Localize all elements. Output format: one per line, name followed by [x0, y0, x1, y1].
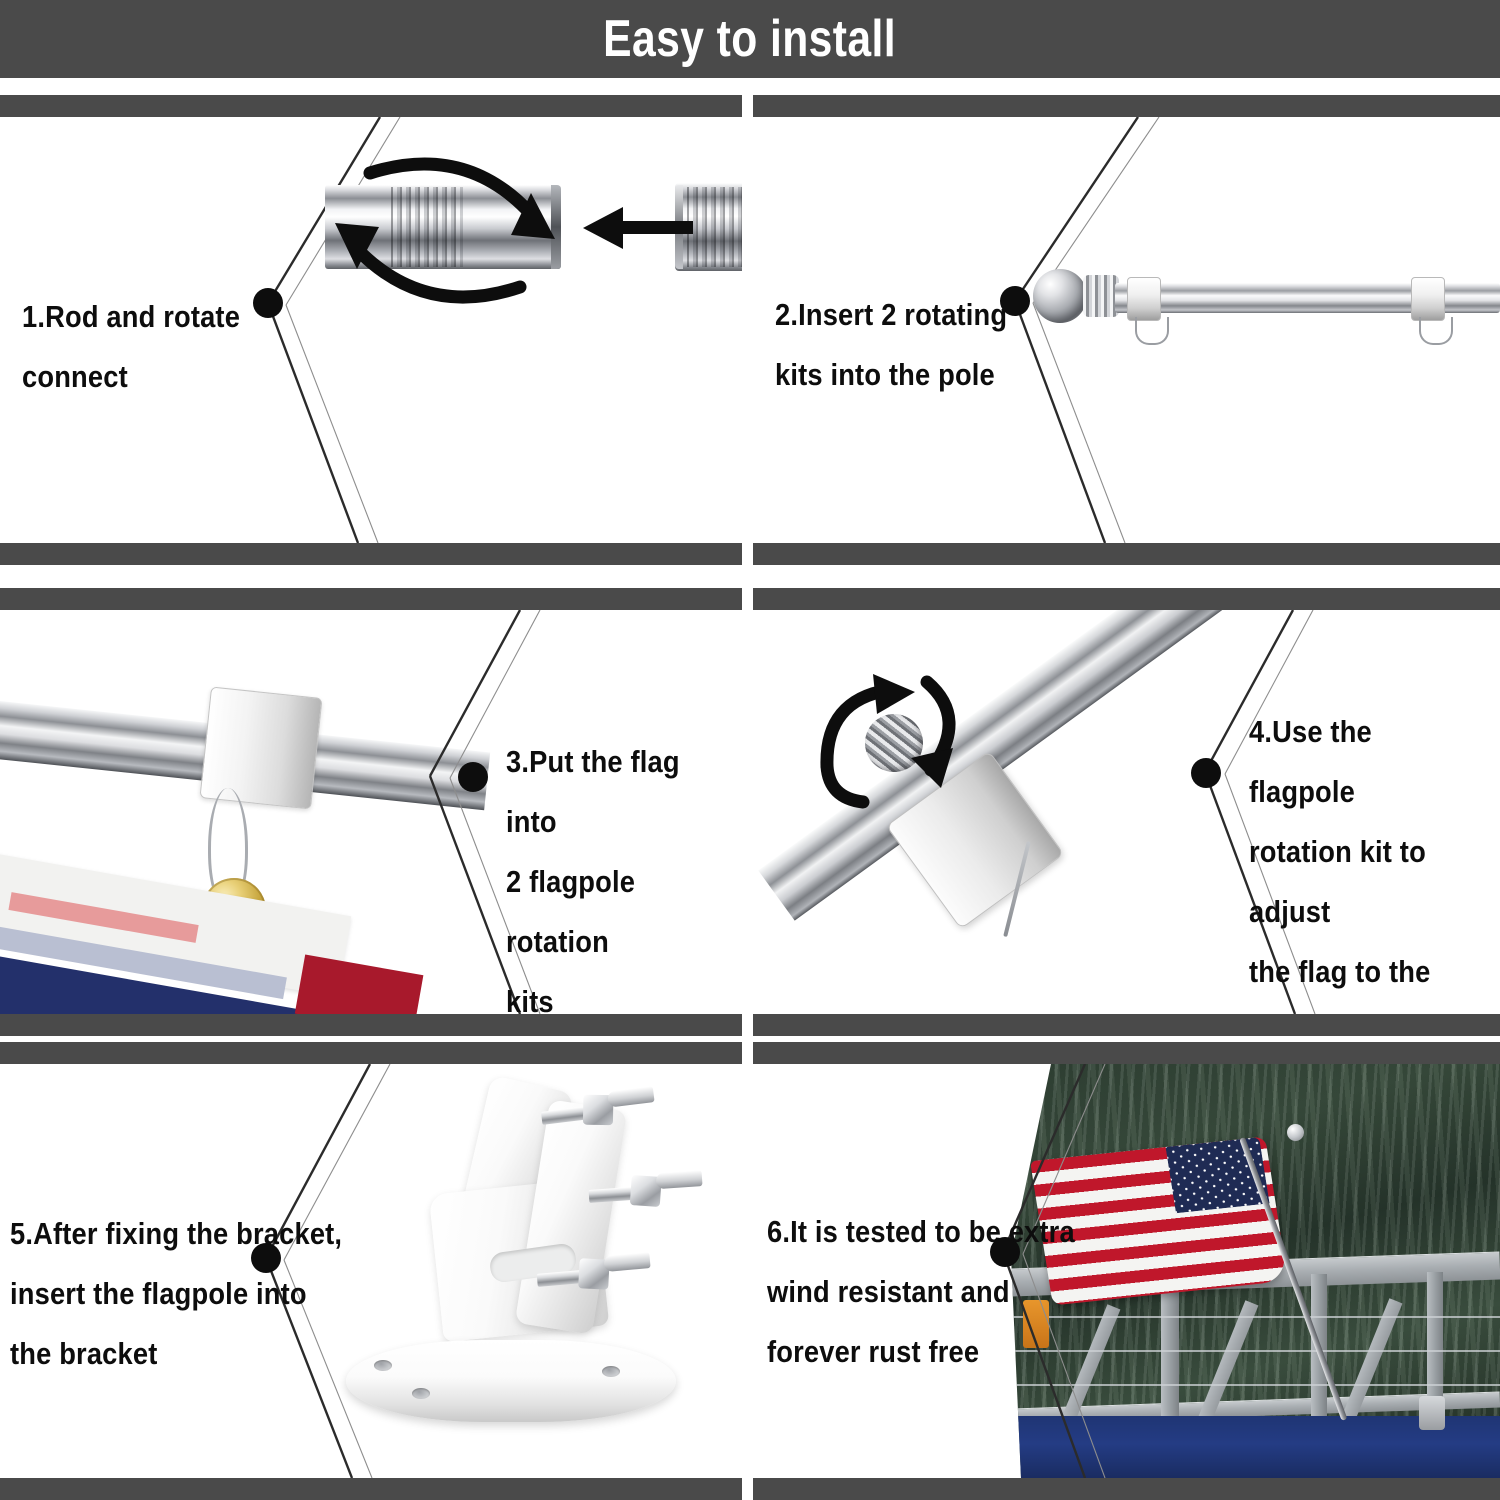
step-panel-5: 5.After fixing the bracket, insert the f… — [0, 1042, 742, 1500]
panel-bottom-bar — [0, 1014, 742, 1036]
rotation-clip — [199, 686, 322, 809]
step-marker-dot — [1191, 758, 1221, 788]
panel-top-bar — [0, 588, 742, 610]
step-4-caption: 4.Use the flagpole rotation kit to adjus… — [1249, 702, 1470, 1014]
dock-cable-3 — [1011, 1384, 1500, 1386]
dock-cable-1 — [1011, 1316, 1500, 1318]
dock-post-1 — [1161, 1278, 1179, 1428]
panel-bottom-bar — [0, 1478, 742, 1500]
ball-finial — [1033, 269, 1087, 323]
step-1-caption: 1.Rod and rotate connect — [22, 287, 240, 407]
panel-top-bar — [0, 1042, 742, 1064]
step-panel-2: 2.Insert 2 rotating kits into the pole — [753, 95, 1500, 565]
panel-top-bar — [753, 95, 1500, 117]
flag-body-red — [295, 954, 424, 1014]
base-screw-hole-2 — [412, 1388, 430, 1399]
panel-body: 1.Rod and rotate connect — [0, 117, 742, 543]
panel-top-bar — [753, 588, 1500, 610]
base-screw-hole-3 — [602, 1366, 620, 1377]
step-3-caption: 3.Put the flag into 2 flagpole rotation … — [506, 732, 714, 1014]
rotating-kit-ring-2 — [1411, 277, 1445, 321]
step-panel-3: 3.Put the flag into 2 flagpole rotation … — [0, 588, 742, 1036]
pole-bracket-mount — [1419, 1396, 1445, 1430]
step-6-caption: 6.It is tested to be extra wind resistan… — [767, 1202, 1075, 1382]
step-panel-6: 6.It is tested to be extra wind resistan… — [753, 1042, 1500, 1500]
install-instructions-infographic: Easy to install — [0, 0, 1500, 1500]
panel-bottom-bar — [753, 1014, 1500, 1036]
step-2-product-image — [1023, 117, 1500, 543]
panel-bottom-bar — [753, 1478, 1500, 1500]
step-marker-dot — [253, 288, 283, 318]
panel-top-bar — [0, 95, 742, 117]
panel-bottom-bar — [753, 543, 1500, 565]
step-marker-dot — [458, 762, 488, 792]
knurl-band-right — [687, 187, 742, 267]
page-title: Easy to install — [604, 9, 897, 69]
dock-cable-2 — [1011, 1350, 1500, 1352]
panel-top-bar — [753, 1042, 1500, 1064]
step-panel-4: 4.Use the flagpole rotation kit to adjus… — [753, 588, 1500, 1036]
bracket-base-plate — [346, 1340, 676, 1422]
step-1-product-image — [295, 117, 742, 543]
rotating-kit-clip-1 — [1135, 317, 1169, 345]
rotation-arrow-icon — [803, 670, 983, 810]
panel-body: 2.Insert 2 rotating kits into the pole — [753, 117, 1500, 543]
step-5-product-image — [340, 1064, 742, 1478]
step-panel-1: 1.Rod and rotate connect — [0, 95, 742, 565]
panel-body: 5.After fixing the bracket, insert the f… — [0, 1064, 742, 1478]
base-screw-hole-1 — [374, 1360, 392, 1371]
step-2-caption: 2.Insert 2 rotating kits into the pole — [775, 285, 1007, 405]
rotating-kit-ring-1 — [1127, 277, 1161, 321]
rotating-kit-clip-2 — [1419, 317, 1453, 345]
panel-body: 3.Put the flag into 2 flagpole rotation … — [0, 610, 742, 1014]
pole-ball-finial — [1287, 1124, 1304, 1141]
step-5-caption: 5.After fixing the bracket, insert the f… — [10, 1204, 342, 1384]
header-banner: Easy to install — [0, 0, 1500, 78]
step-6-product-photo — [1011, 1064, 1500, 1478]
step-3-product-image — [0, 610, 500, 1014]
panel-body: 4.Use the flagpole rotation kit to adjus… — [753, 610, 1500, 1014]
step-4-product-image — [753, 610, 1223, 1014]
insert-arrow-icon — [583, 205, 693, 251]
rotation-arrow-icon — [315, 135, 575, 325]
finial-neck — [1083, 275, 1119, 317]
panel-body: 6.It is tested to be extra wind resistan… — [753, 1064, 1500, 1478]
panel-bottom-bar — [0, 543, 742, 565]
